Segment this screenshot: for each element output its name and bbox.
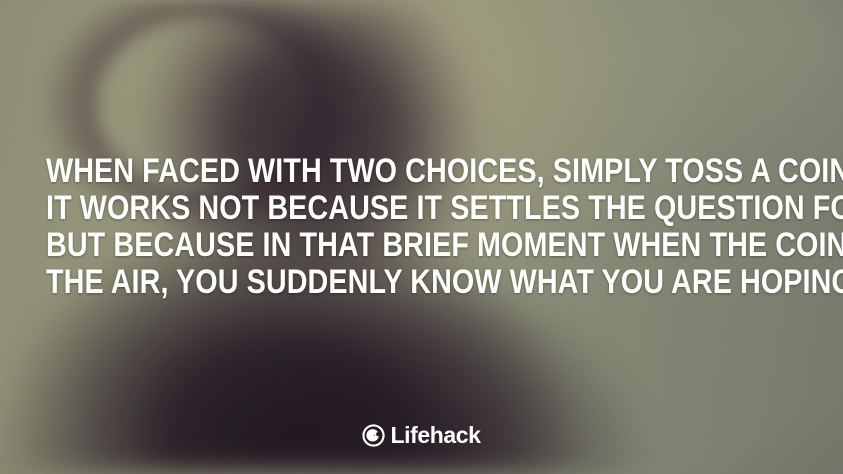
quote-text-block: WHEN FACED WITH TWO CHOICES, SIMPLY TOSS… bbox=[46, 153, 798, 301]
quote-line-2: IT WORKS NOT BECAUSE IT SETTLES THE QUES… bbox=[46, 190, 681, 227]
lifehack-circle-target-icon bbox=[362, 424, 385, 447]
lifehack-wordmark: Lifehack bbox=[390, 424, 480, 447]
quote-card: WHEN FACED WITH TWO CHOICES, SIMPLY TOSS… bbox=[0, 0, 843, 474]
lifehack-logo: Lifehack bbox=[0, 420, 843, 450]
quote-line-4: THE AIR, YOU SUDDENLY KNOW WHAT YOU ARE … bbox=[46, 264, 681, 301]
quote-line-3: BUT BECAUSE IN THAT BRIEF MOMENT WHEN TH… bbox=[46, 227, 681, 264]
quote-line-1: WHEN FACED WITH TWO CHOICES, SIMPLY TOSS… bbox=[46, 153, 681, 190]
